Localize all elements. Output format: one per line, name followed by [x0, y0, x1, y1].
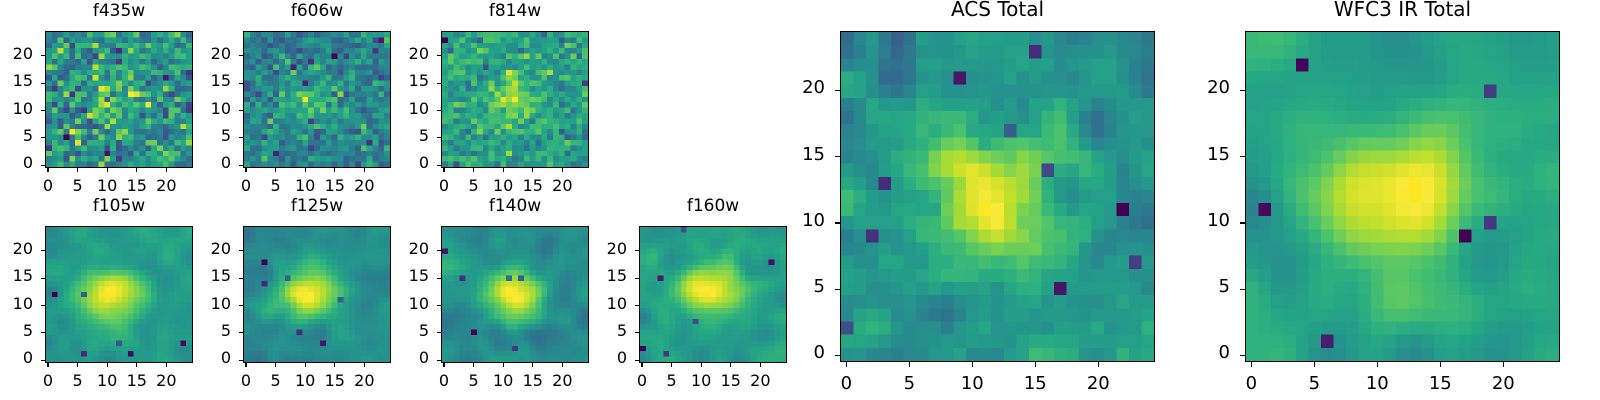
- y-tick-label: 0: [780, 344, 825, 362]
- x-tick-label: 20: [1073, 375, 1123, 393]
- panel-title: f160w: [639, 198, 787, 215]
- x-tick: [503, 168, 504, 172]
- y-tick-label: 5: [780, 278, 825, 296]
- y-tick: [239, 305, 243, 306]
- y-tick: [835, 289, 840, 290]
- heatmap-axes-wfc3-ir-total: [1245, 31, 1560, 362]
- y-tick: [835, 156, 840, 157]
- x-tick: [1251, 362, 1252, 367]
- heatmap-axes-acs-total: [840, 31, 1155, 362]
- y-tick: [1240, 289, 1245, 290]
- x-tick: [166, 363, 167, 367]
- y-tick: [1240, 156, 1245, 157]
- x-tick: [671, 363, 672, 367]
- x-tick: [1440, 362, 1441, 367]
- y-tick-label: 15: [780, 146, 825, 164]
- x-tick: [1035, 362, 1036, 367]
- y-tick-label: 10: [780, 212, 825, 230]
- y-tick: [437, 250, 441, 251]
- x-tick-label: 10: [1352, 375, 1402, 393]
- x-tick-label: 10: [947, 375, 997, 393]
- x-tick-label: 0: [821, 375, 871, 393]
- x-tick: [473, 168, 474, 172]
- y-tick: [41, 278, 45, 279]
- y-tick: [437, 110, 441, 111]
- y-tick: [437, 137, 441, 138]
- heatmap-axes-f125w: [243, 226, 391, 363]
- y-tick: [41, 55, 45, 56]
- y-tick: [41, 110, 45, 111]
- x-tick: [107, 168, 108, 172]
- heatmap-axes-f435w: [45, 31, 193, 168]
- panel-f435w: f435w0510152005101520: [0, 3, 213, 202]
- y-tick: [835, 355, 840, 356]
- y-tick: [437, 305, 441, 306]
- heatmap-image-f606w: [244, 32, 390, 167]
- y-tick: [41, 165, 45, 166]
- x-tick: [760, 363, 761, 367]
- heatmap-axes-f105w: [45, 226, 193, 363]
- y-tick: [835, 222, 840, 223]
- x-tick: [701, 363, 702, 367]
- y-tick-label: 15: [0, 73, 33, 89]
- x-tick: [1377, 362, 1378, 367]
- x-tick: [275, 168, 276, 172]
- panel-title: WFC3 IR Total: [1245, 0, 1560, 19]
- y-tick-label: 0: [381, 155, 429, 171]
- y-tick-label: 0: [381, 350, 429, 366]
- x-tick: [107, 363, 108, 367]
- y-tick: [1240, 355, 1245, 356]
- x-tick: [562, 363, 563, 367]
- y-tick: [635, 332, 639, 333]
- x-tick: [846, 362, 847, 367]
- y-tick: [1240, 222, 1245, 223]
- y-tick-label: 10: [183, 101, 231, 117]
- y-tick-label: 10: [381, 101, 429, 117]
- x-tick: [245, 168, 246, 172]
- heatmap-image-f140w: [442, 227, 588, 362]
- y-tick-label: 0: [0, 155, 33, 171]
- x-tick-label: 5: [884, 375, 934, 393]
- x-tick: [47, 363, 48, 367]
- y-tick-label: 0: [0, 350, 33, 366]
- y-tick: [239, 83, 243, 84]
- x-tick-label: 20: [735, 373, 785, 389]
- panel-f125w: f125w0510152005101520: [183, 198, 411, 397]
- x-tick: [364, 168, 365, 172]
- y-tick: [635, 250, 639, 251]
- x-tick: [166, 168, 167, 172]
- y-tick: [437, 165, 441, 166]
- x-tick: [503, 363, 504, 367]
- y-tick: [41, 305, 45, 306]
- y-tick-label: 10: [1185, 212, 1230, 230]
- x-tick: [972, 362, 973, 367]
- heatmap-image-f105w: [46, 227, 192, 362]
- x-tick: [443, 168, 444, 172]
- y-tick-label: 15: [381, 268, 429, 284]
- y-tick-label: 10: [183, 296, 231, 312]
- y-tick-label: 0: [579, 350, 627, 366]
- y-tick-label: 5: [381, 323, 429, 339]
- panel-title: ACS Total: [840, 0, 1155, 19]
- y-tick-label: 20: [780, 79, 825, 97]
- x-tick: [532, 168, 533, 172]
- y-tick: [41, 137, 45, 138]
- y-tick-label: 20: [579, 241, 627, 257]
- x-tick: [562, 168, 563, 172]
- heatmap-axes-f140w: [441, 226, 589, 363]
- y-tick: [635, 360, 639, 361]
- y-tick: [239, 137, 243, 138]
- figure-canvas: f435w0510152005101520f606w05101520051015…: [0, 0, 1600, 400]
- y-tick-label: 5: [183, 323, 231, 339]
- panel-title: f814w: [441, 3, 589, 20]
- y-tick-label: 5: [0, 323, 33, 339]
- x-tick: [334, 363, 335, 367]
- heatmap-image-f435w: [46, 32, 192, 167]
- y-tick-label: 20: [0, 241, 33, 257]
- panel-wfc3-ir-total: WFC3 IR Total0510152005101520: [1185, 0, 1580, 396]
- heatmap-image-f125w: [244, 227, 390, 362]
- x-tick: [1314, 362, 1315, 367]
- y-tick-label: 15: [381, 73, 429, 89]
- y-tick: [239, 278, 243, 279]
- y-tick-label: 15: [0, 268, 33, 284]
- x-tick: [909, 362, 910, 367]
- y-tick-label: 5: [183, 128, 231, 144]
- x-tick: [443, 363, 444, 367]
- x-tick: [730, 363, 731, 367]
- x-tick: [364, 363, 365, 367]
- y-tick: [1240, 90, 1245, 91]
- y-tick-label: 20: [381, 241, 429, 257]
- x-tick-label: 15: [1415, 375, 1465, 393]
- y-tick-label: 15: [1185, 146, 1230, 164]
- y-tick: [437, 55, 441, 56]
- y-tick-label: 10: [0, 101, 33, 117]
- x-tick-label: 15: [1010, 375, 1060, 393]
- heatmap-image-wfc3-ir-total: [1246, 32, 1559, 361]
- y-tick-label: 10: [381, 296, 429, 312]
- heatmap-axes-f160w: [639, 226, 787, 363]
- x-tick-label: 20: [1478, 375, 1528, 393]
- x-tick: [305, 168, 306, 172]
- x-tick: [275, 363, 276, 367]
- x-tick: [245, 363, 246, 367]
- y-tick: [41, 250, 45, 251]
- y-tick-label: 20: [183, 46, 231, 62]
- panel-acs-total: ACS Total0510152005101520: [780, 0, 1175, 396]
- x-tick: [136, 168, 137, 172]
- y-tick: [41, 332, 45, 333]
- x-tick-label: 20: [537, 178, 587, 194]
- y-tick: [239, 360, 243, 361]
- y-tick: [239, 250, 243, 251]
- y-tick: [835, 90, 840, 91]
- x-tick: [641, 363, 642, 367]
- panel-f814w: f814w0510152005101520: [381, 3, 609, 202]
- y-tick-label: 5: [0, 128, 33, 144]
- y-tick: [41, 83, 45, 84]
- panel-f160w: f160w0510152005101520: [579, 198, 807, 397]
- panel-title: f435w: [45, 3, 193, 20]
- x-tick: [136, 363, 137, 367]
- panel-title: f606w: [243, 3, 391, 20]
- x-tick: [473, 363, 474, 367]
- y-tick-label: 0: [183, 155, 231, 171]
- panel-title: f125w: [243, 198, 391, 215]
- y-tick-label: 20: [0, 46, 33, 62]
- x-tick: [77, 363, 78, 367]
- panel-f140w: f140w0510152005101520: [381, 198, 609, 397]
- y-tick: [239, 332, 243, 333]
- x-tick: [1503, 362, 1504, 367]
- heatmap-image-f814w: [442, 32, 588, 167]
- y-tick-label: 10: [579, 296, 627, 312]
- y-tick-label: 20: [381, 46, 429, 62]
- y-tick-label: 5: [579, 323, 627, 339]
- y-tick: [437, 83, 441, 84]
- x-tick-label: 5: [1289, 375, 1339, 393]
- y-tick-label: 5: [381, 128, 429, 144]
- y-tick-label: 5: [1185, 278, 1230, 296]
- panel-title: f105w: [45, 198, 193, 215]
- heatmap-axes-f606w: [243, 31, 391, 168]
- panel-title: f140w: [441, 198, 589, 215]
- x-tick-label: 0: [1226, 375, 1276, 393]
- y-tick-label: 10: [0, 296, 33, 312]
- y-tick: [239, 55, 243, 56]
- y-tick: [437, 360, 441, 361]
- y-tick: [437, 278, 441, 279]
- panel-f606w: f606w0510152005101520: [183, 3, 411, 202]
- y-tick-label: 20: [183, 241, 231, 257]
- y-tick-label: 0: [183, 350, 231, 366]
- x-tick: [532, 363, 533, 367]
- y-tick-label: 0: [1185, 344, 1230, 362]
- y-tick: [239, 165, 243, 166]
- heatmap-image-f160w: [640, 227, 786, 362]
- x-tick: [334, 168, 335, 172]
- y-tick: [41, 360, 45, 361]
- y-tick-label: 15: [579, 268, 627, 284]
- y-tick-label: 20: [1185, 79, 1230, 97]
- y-tick: [239, 110, 243, 111]
- y-tick: [635, 278, 639, 279]
- x-tick: [47, 168, 48, 172]
- y-tick-label: 15: [183, 73, 231, 89]
- y-tick-label: 15: [183, 268, 231, 284]
- panel-f105w: f105w0510152005101520: [0, 198, 213, 397]
- x-tick: [77, 168, 78, 172]
- heatmap-axes-f814w: [441, 31, 589, 168]
- x-tick: [1098, 362, 1099, 367]
- y-tick: [437, 332, 441, 333]
- heatmap-image-acs-total: [841, 32, 1154, 361]
- x-tick: [305, 363, 306, 367]
- y-tick: [635, 305, 639, 306]
